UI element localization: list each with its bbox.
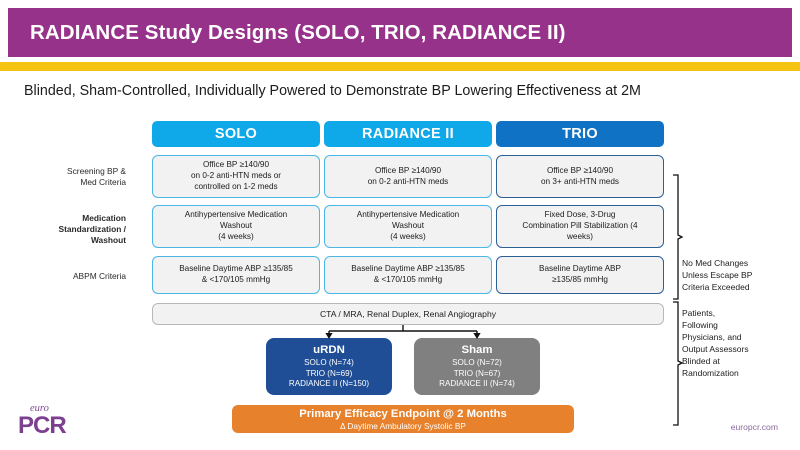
column-header-radiance-ii[interactable]: RADIANCE II <box>324 121 492 147</box>
cell-screening-solo: Office BP ≥140/90on 0-2 anti-HTN meds or… <box>152 155 320 198</box>
arm-line-sham-trio: TRIO (N=67) <box>454 369 501 379</box>
cell-abpm-solo: Baseline Daytime ABP ≥135/85& <170/105 m… <box>152 256 320 294</box>
cell-medication-radiance-ii: Antihypertensive MedicationWashout(4 wee… <box>324 205 492 248</box>
row-label-medication: MedicationStandardization /Washout <box>14 213 126 246</box>
cell-abpm-trio: Baseline Daytime ABP≥135/85 mmHg <box>496 256 664 294</box>
cell-medication-solo: Antihypertensive MedicationWashout(4 wee… <box>152 205 320 248</box>
arm-title-sham: Sham <box>461 344 492 356</box>
arm-line-urdn-solo: SOLO (N=74) <box>304 358 354 368</box>
note-blinding: Patients,FollowingPhysicians, andOutput … <box>682 307 794 379</box>
title-bar: RADIANCE Study Designs (SOLO, TRIO, RADI… <box>8 8 792 57</box>
accent-bar <box>0 62 800 71</box>
cell-abpm-radiance-ii: Baseline Daytime ABP ≥135/85& <170/105 m… <box>324 256 492 294</box>
europcr-logo: euro PCR <box>18 404 88 442</box>
column-header-trio[interactable]: TRIO <box>496 121 664 147</box>
row-label-screening: Screening BP &Med Criteria <box>14 166 126 188</box>
row-label-abpm: ABPM Criteria <box>14 271 126 282</box>
arm-line-urdn-trio: TRIO (N=69) <box>306 369 353 379</box>
arm-line-sham-radiance-ii: RADIANCE II (N=74) <box>439 379 515 389</box>
arm-line-urdn-radiance-ii: RADIANCE II (N=150) <box>289 379 369 389</box>
bracket-blinding <box>673 302 682 425</box>
randomization-connector <box>329 325 477 334</box>
arm-box-sham: Sham SOLO (N=72) TRIO (N=67) RADIANCE II… <box>414 338 540 395</box>
website-label: europcr.com <box>731 422 778 432</box>
page-title: RADIANCE Study Designs (SOLO, TRIO, RADI… <box>8 21 566 45</box>
note-no-med-changes: No Med ChangesUnless Escape BPCriteria E… <box>682 257 794 293</box>
subtitle: Blinded, Sham-Controlled, Individually P… <box>24 83 784 99</box>
logo-text-pcr: PCR <box>18 414 88 438</box>
cell-medication-trio: Fixed Dose, 3-DrugCombination Pill Stabi… <box>496 205 664 248</box>
slide-root: RADIANCE Study Designs (SOLO, TRIO, RADI… <box>0 0 800 450</box>
cell-screening-trio: Office BP ≥140/90on 3+ anti-HTN meds <box>496 155 664 198</box>
arm-line-sham-solo: SOLO (N=72) <box>452 358 502 368</box>
imaging-bar: CTA / MRA, Renal Duplex, Renal Angiograp… <box>152 303 664 325</box>
arm-box-urdn: uRDN SOLO (N=74) TRIO (N=69) RADIANCE II… <box>266 338 392 395</box>
column-header-solo[interactable]: SOLO <box>152 121 320 147</box>
bracket-med-changes <box>673 175 682 299</box>
cell-screening-radiance-ii: Office BP ≥140/90on 0-2 anti-HTN meds <box>324 155 492 198</box>
arm-title-urdn: uRDN <box>313 344 345 356</box>
endpoint-title: Primary Efficacy Endpoint @ 2 Months <box>299 408 507 420</box>
endpoint-subtitle: Δ Daytime Ambulatory Systolic BP <box>340 421 466 431</box>
primary-endpoint-bar: Primary Efficacy Endpoint @ 2 Months Δ D… <box>232 405 574 433</box>
